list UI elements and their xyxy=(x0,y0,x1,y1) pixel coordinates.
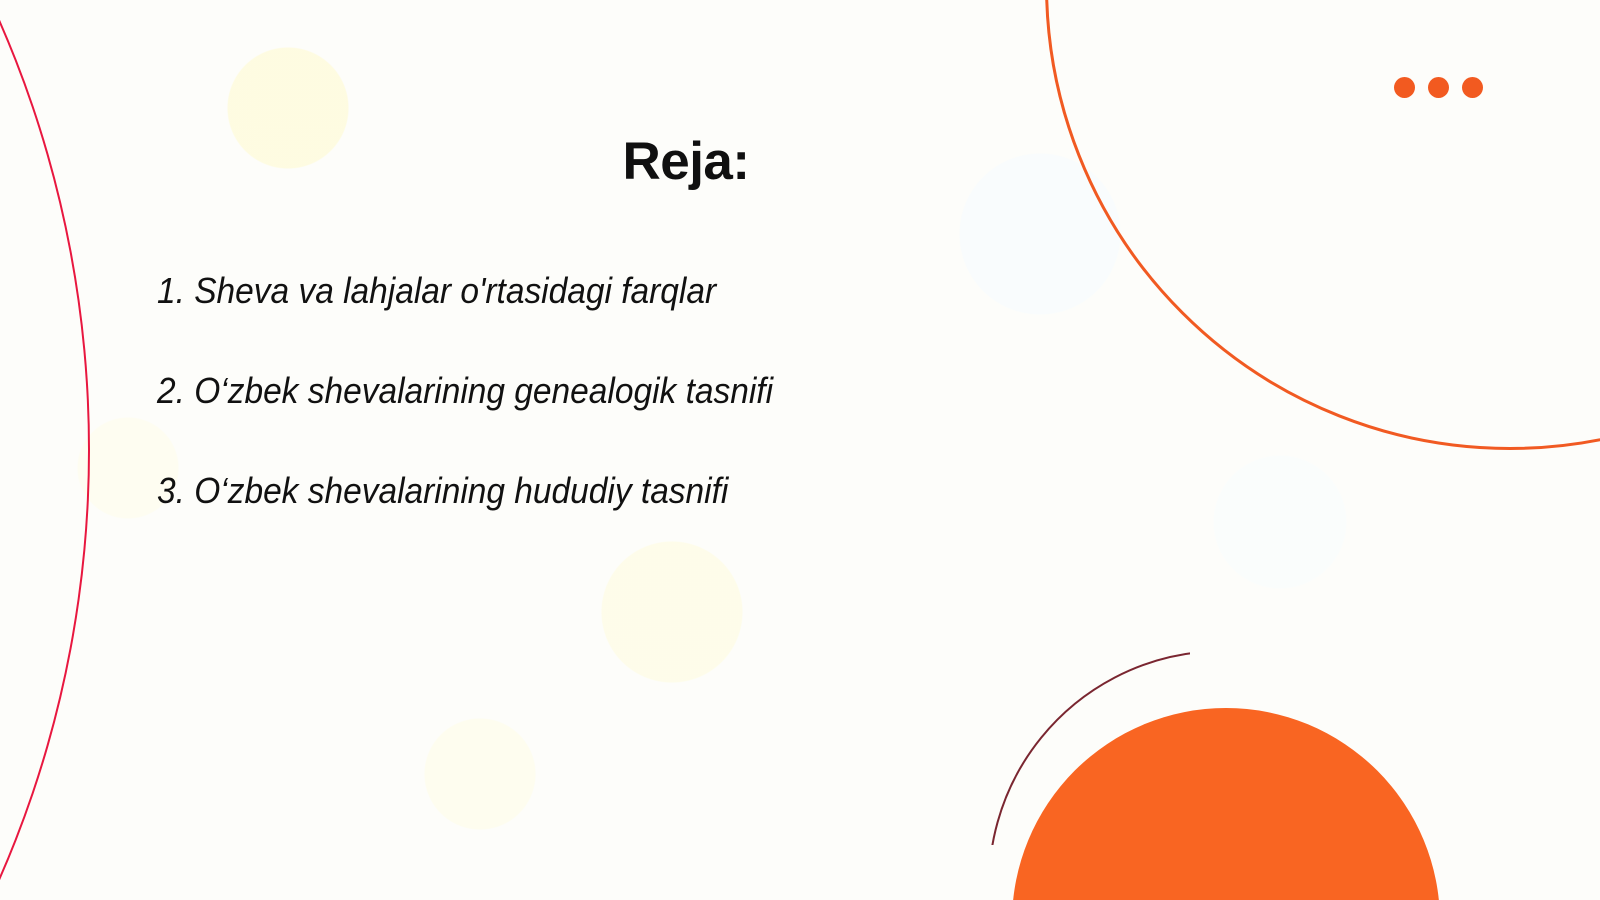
list-item: 2. O‘zbek shevalarining genealogik tasni… xyxy=(157,372,1087,410)
slide-content: Reja: 1. Sheva va lahjalar o'rtasidagi f… xyxy=(0,0,1600,900)
agenda-list: 1. Sheva va lahjalar o'rtasidagi farqlar… xyxy=(157,272,1157,509)
list-item: 3. O‘zbek shevalarining hududiy tasnifi xyxy=(157,472,1087,510)
page-title: Reja: xyxy=(0,131,1372,192)
presentation-slide: Reja: 1. Sheva va lahjalar o'rtasidagi f… xyxy=(0,0,1600,900)
list-item: 1. Sheva va lahjalar o'rtasidagi farqlar xyxy=(157,272,1087,310)
